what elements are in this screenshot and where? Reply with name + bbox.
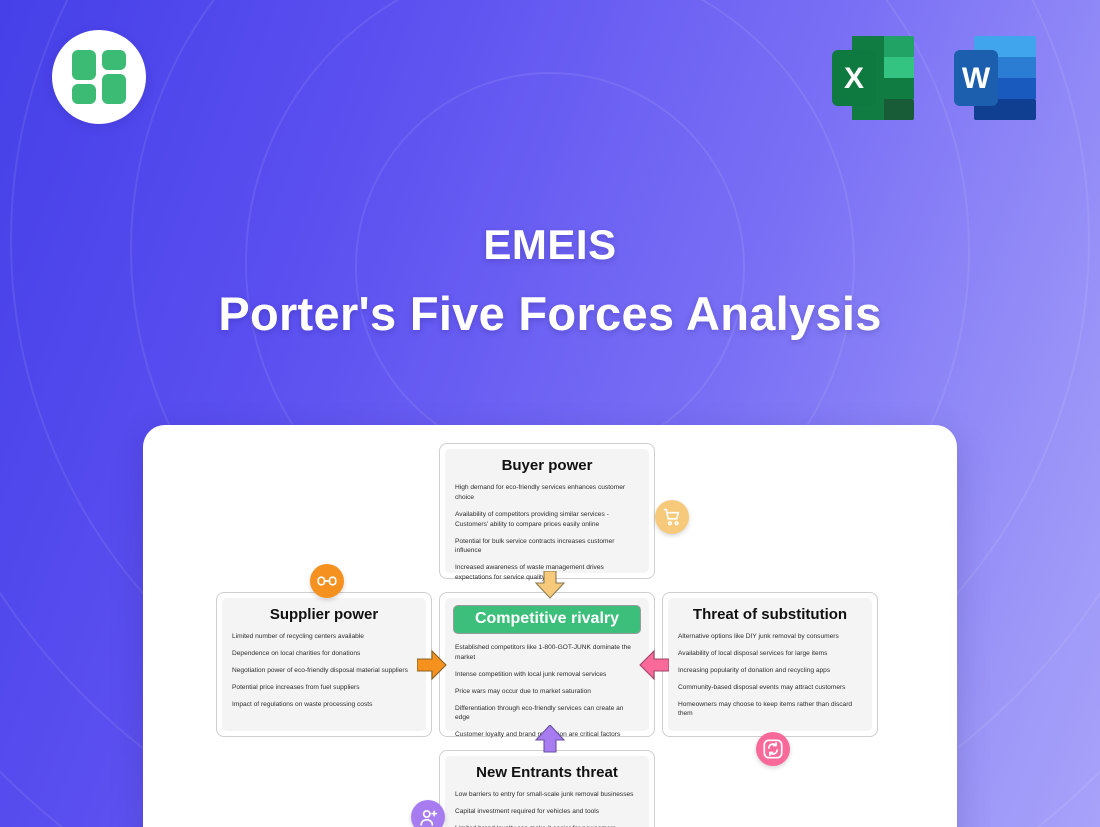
force-title: Buyer power <box>455 457 639 474</box>
force-item: High demand for eco-friendly services en… <box>455 483 639 503</box>
force-item: Increasing popularity of donation and re… <box>678 666 862 676</box>
page-title: Porter's Five Forces Analysis <box>0 286 1100 341</box>
office-app-icons: X W <box>824 28 1046 128</box>
shopping-cart-badge[interactable] <box>655 500 689 534</box>
link-icon <box>317 571 337 591</box>
force-item: Availability of local disposal services … <box>678 649 862 659</box>
svg-text:X: X <box>844 62 864 95</box>
force-item: Intense competition with local junk remo… <box>455 670 639 680</box>
arrow-up-icon <box>533 725 567 758</box>
force-box-threat-of-substitution[interactable]: Threat of substitution Alternative optio… <box>662 592 878 737</box>
excel-icon[interactable]: X <box>824 28 924 128</box>
shopping-cart-icon <box>662 507 682 527</box>
svg-text:W: W <box>962 62 991 95</box>
force-item: Established competitors like 1-800-GOT-J… <box>455 643 639 663</box>
force-item: Differentiation through eco-friendly ser… <box>455 704 639 724</box>
force-item: Potential for bulk service contracts inc… <box>455 537 639 557</box>
force-item: Potential price increases from fuel supp… <box>232 683 416 693</box>
add-user-icon <box>418 807 439 827</box>
force-title: Threat of substitution <box>678 606 862 623</box>
link-badge[interactable] <box>310 564 344 598</box>
arrow-left-icon <box>639 649 669 686</box>
force-item: Alternative options like DIY junk remova… <box>678 632 862 642</box>
force-item: Community-based disposal events may attr… <box>678 683 862 693</box>
force-box-new-entrants-threat[interactable]: New Entrants threat Low barriers to entr… <box>439 750 655 827</box>
word-icon[interactable]: W <box>946 28 1046 128</box>
force-title: New Entrants threat <box>455 764 639 781</box>
brand-logo <box>52 30 146 124</box>
force-item: Negotiation power of eco-friendly dispos… <box>232 666 416 676</box>
force-item: Capital investment required for vehicles… <box>455 807 639 817</box>
force-title: Supplier power <box>232 606 416 623</box>
arrow-down-icon <box>533 571 567 604</box>
force-item: Price wars may occur due to market satur… <box>455 687 639 697</box>
force-item: Low barriers to entry for small-scale ju… <box>455 790 639 800</box>
grid-logo-icon <box>72 50 126 104</box>
refresh-icon <box>762 738 784 760</box>
title-block: EMEIS Porter's Five Forces Analysis <box>0 222 1100 341</box>
refresh-badge[interactable] <box>756 732 790 766</box>
force-box-competitive-rivalry[interactable]: Competitive rivalry Established competit… <box>439 592 655 737</box>
slide-root: X W EMEIS Porter's Five Forces Analysis … <box>0 0 1100 827</box>
porters-five-forces-diagram: Buyer power High demand for eco-friendly… <box>143 425 957 827</box>
diagram-card: Buyer power High demand for eco-friendly… <box>143 425 957 827</box>
brand-name: EMEIS <box>0 222 1100 268</box>
force-item: Dependence on local charities for donati… <box>232 649 416 659</box>
force-box-supplier-power[interactable]: Supplier power Limited number of recycli… <box>216 592 432 737</box>
arrow-right-icon <box>417 649 447 686</box>
force-item: Limited number of recycling centers avai… <box>232 632 416 642</box>
force-title: Competitive rivalry <box>453 605 641 634</box>
force-item: Homeowners may choose to keep items rath… <box>678 700 862 720</box>
force-item: Impact of regulations on waste processin… <box>232 700 416 710</box>
add-user-badge[interactable] <box>411 800 445 827</box>
force-box-buyer-power[interactable]: Buyer power High demand for eco-friendly… <box>439 443 655 579</box>
force-item: Availability of competitors providing si… <box>455 510 639 530</box>
